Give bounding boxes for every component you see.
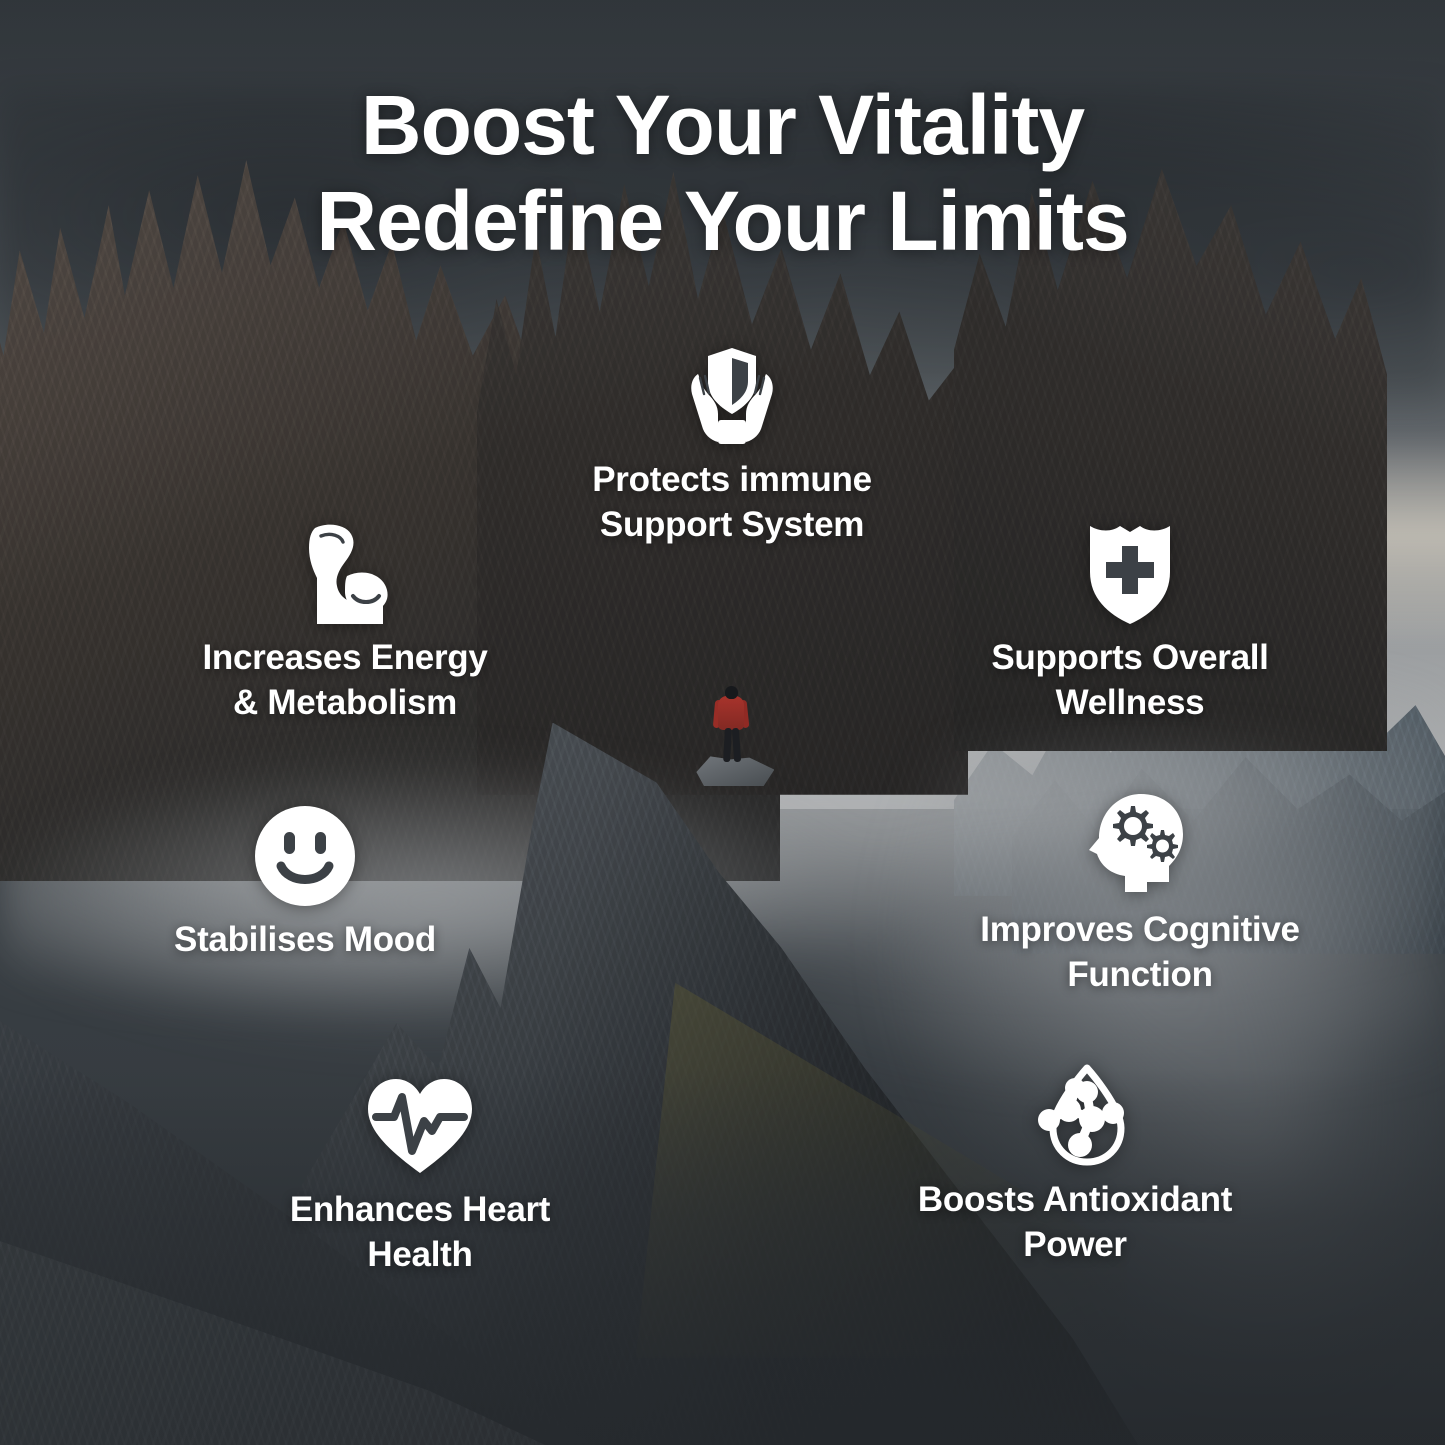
smiley-face-icon <box>85 800 525 912</box>
vitality-infographic-poster: Boost Your Vitality Redefine Your Limits <box>0 0 1445 1445</box>
poster-content: Boost Your Vitality Redefine Your Limits <box>0 0 1445 1445</box>
feature-label: Protects immune Support System <box>502 458 962 548</box>
feature-mood: Stabilises Mood <box>85 800 525 963</box>
feature-label: Stabilises Mood <box>85 918 525 963</box>
flexed-bicep-icon <box>125 518 565 630</box>
feature-cognitive: Improves Cognitive Function <box>910 790 1370 998</box>
headline-line-1: Boost Your Vitality <box>361 78 1084 172</box>
hands-holding-shield-icon <box>502 340 962 452</box>
feature-label: Supports Overall Wellness <box>900 636 1360 726</box>
shield-medical-cross-icon <box>900 518 1360 630</box>
feature-immune: Protects immune Support System <box>502 340 962 548</box>
feature-antioxidant: Boosts Antioxidant Power <box>845 1060 1305 1268</box>
feature-heart: Enhances Heart Health <box>200 1070 640 1278</box>
feature-label: Boosts Antioxidant Power <box>845 1178 1305 1268</box>
droplet-molecule-icon <box>845 1060 1305 1172</box>
page-title: Boost Your Vitality Redefine Your Limits <box>0 78 1445 270</box>
feature-wellness: Supports Overall Wellness <box>900 518 1360 726</box>
feature-label: Improves Cognitive Function <box>910 908 1370 998</box>
feature-label: Increases Energy & Metabolism <box>125 636 565 726</box>
head-gears-icon <box>910 790 1370 902</box>
feature-label: Enhances Heart Health <box>200 1188 640 1278</box>
heart-pulse-icon <box>200 1070 640 1182</box>
feature-energy: Increases Energy & Metabolism <box>125 518 565 726</box>
headline-line-2: Redefine Your Limits <box>60 174 1385 270</box>
